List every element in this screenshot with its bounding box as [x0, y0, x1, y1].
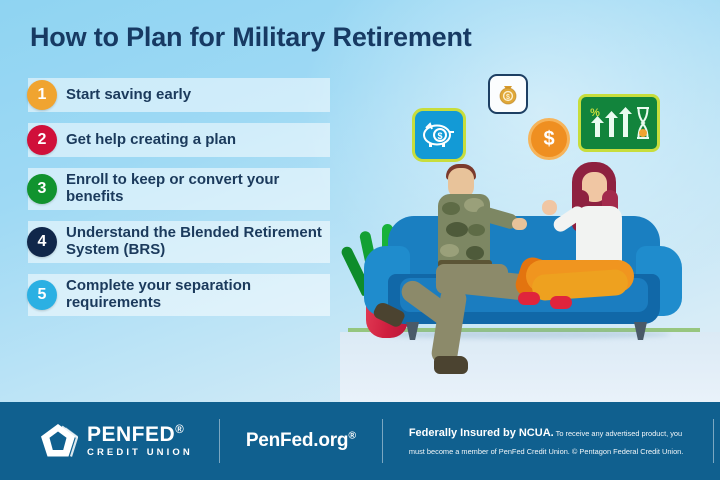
money-bag-icon: $ [488, 74, 528, 114]
footer-divider-1 [219, 419, 220, 463]
logo-tagline: CREDIT UNION [87, 448, 193, 458]
step-badge-1: 1 [27, 80, 57, 110]
list-item-step-1: 1 Start saving early [28, 78, 330, 112]
list-item-step-3: 3 Enroll to keep or convert your benefit… [28, 168, 330, 210]
step-badge-5: 5 [27, 280, 57, 310]
website-link[interactable]: PenFed.org® [246, 430, 356, 452]
step-label-4: Understand the Blended Retirement System… [66, 225, 322, 259]
penfed-logo[interactable]: PENFED® CREDIT UNION [0, 421, 193, 461]
svg-text:$: $ [506, 94, 510, 101]
piggy-bank-icon: $ [412, 108, 466, 162]
footer-divider-3 [713, 419, 714, 463]
steps-list: 1 Start saving early 2 Get help creating… [28, 78, 330, 327]
step-badge-2: 2 [27, 125, 57, 155]
logo-wordmark: PENFED® [87, 424, 193, 445]
dollar-coin-icon: $ [528, 118, 570, 160]
step-badge-4: 4 [27, 227, 57, 257]
footer-bar: PENFED® CREDIT UNION PenFed.org® Federal… [0, 402, 720, 480]
page-title: How to Plan for Military Retirement [30, 22, 472, 53]
list-item-step-2: 2 Get help creating a plan [28, 123, 330, 157]
step-label-2: Get help creating a plan [66, 132, 236, 149]
footer-divider-2 [382, 419, 383, 463]
pentagon-logo-icon [38, 421, 78, 461]
legal-disclosure: Federally Insured by NCUA. To receive an… [409, 423, 699, 459]
step-label-1: Start saving early [66, 87, 191, 104]
step-label-3: Enroll to keep or convert your benefits [66, 172, 322, 206]
camo-uniform [438, 194, 490, 266]
legal-headline: Federally Insured by NCUA. [409, 427, 554, 439]
growth-chart-icon: % [578, 94, 660, 152]
floor-shadow [380, 330, 670, 339]
svg-text:$: $ [437, 131, 442, 141]
infographic-canvas: How to Plan for Military Retirement 1 St… [0, 0, 720, 480]
illustration-scene: $ $ $ % [340, 60, 720, 402]
step-badge-3: 3 [27, 174, 57, 204]
list-item-step-4: 4 Understand the Blended Retirement Syst… [28, 221, 330, 263]
step-label-5: Complete your separation requirements [66, 278, 322, 312]
list-item-step-5: 5 Complete your separation requirements [28, 274, 330, 316]
floor [340, 332, 720, 402]
